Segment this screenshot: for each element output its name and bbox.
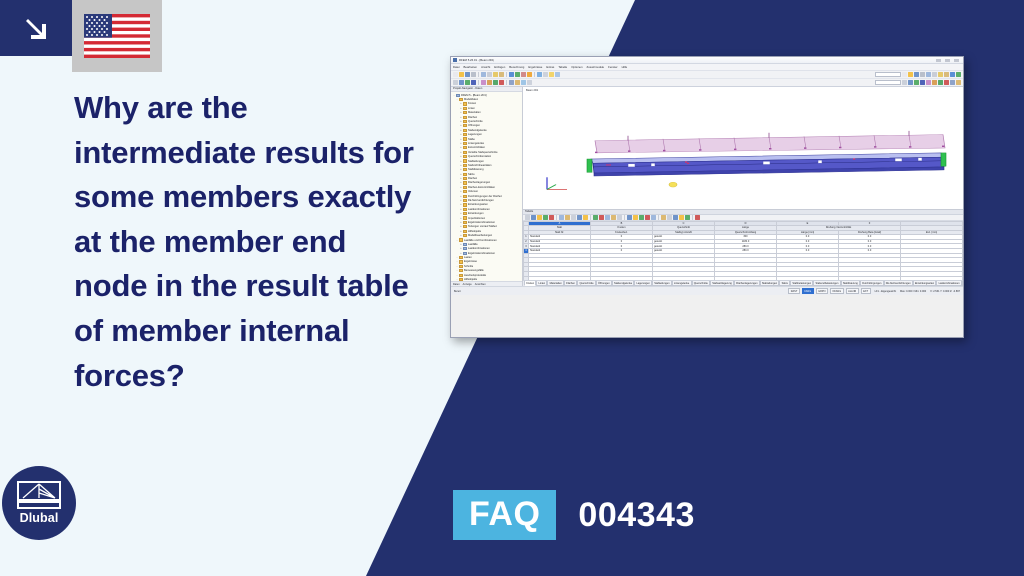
table-body[interactable]: 1Standard0gelenkt3000.00.02Standard0gele… [524,235,963,280]
table-tool-icon[interactable] [627,215,632,220]
language-flag-block[interactable] [72,0,162,72]
folder-icon [463,102,467,105]
navigator-item-label: Durchdringungen der Flächen [468,195,502,198]
folder-icon [463,199,467,202]
table-tool-icon[interactable] [525,215,530,220]
new-icon[interactable] [453,72,458,77]
menu-item[interactable]: Einfügen [494,65,505,69]
load-icon-alt[interactable] [944,80,949,85]
folder-icon [463,181,467,184]
navigator-item-label: Lasten [464,256,472,259]
table-tool-icon[interactable] [571,215,576,220]
navigator-item-label: Flächen [468,177,477,180]
menu-item[interactable]: Fenster [608,65,617,69]
table-tool-icon[interactable] [549,215,554,220]
sheet-tab[interactable]: Querschnitte [577,280,596,286]
status-toggle[interactable]: FANG [802,288,814,294]
menu-item[interactable]: Extras [546,65,554,69]
dlubal-wordmark: Dlubal [20,512,59,525]
support-icon[interactable] [493,80,498,85]
member-icon[interactable] [471,80,476,85]
model-icon [456,94,460,97]
arrow-down-right-icon [21,13,51,43]
toolbar-separator [478,72,479,77]
save-icon[interactable] [465,72,470,77]
folder-icon [463,116,467,119]
new-icon-alt[interactable] [902,72,907,77]
model-graphic [523,87,963,209]
folder-blue-icon [463,247,467,250]
navigator-item-label: Lastkombinationen [468,208,490,211]
folder-icon [463,133,467,136]
menu-item[interactable]: Zusatzmodule [587,65,605,69]
close-button[interactable] [954,59,959,62]
navigator-item-label: Lagerungen [468,133,482,136]
navigator-item-label: Schnitte [464,265,473,268]
table-tool-icon[interactable] [645,215,650,220]
folder-icon [463,107,467,110]
dlubal-logo[interactable]: Dlubal [2,466,76,540]
paste-icon[interactable] [499,72,504,77]
folder-icon [463,212,467,215]
folder-icon [463,137,467,140]
folder-icon [463,168,467,171]
cut-icon[interactable] [487,72,492,77]
app-title-bar: RFEM 5.26.01 - [Beam 2D1] [451,57,963,64]
solid-icon-alt[interactable] [932,80,937,85]
model-viewport[interactable]: Beam 2D1 [523,87,963,210]
select-icon[interactable] [453,80,458,85]
sheet-tab[interactable]: Stabbelastungen [790,280,813,286]
status-left-text: Bereit [454,290,461,293]
navigator-item-label: Volumen [468,190,478,193]
table-tool-icon[interactable] [605,215,610,220]
navigator-item-label: Imperfektionen [468,217,485,220]
navigator-item-label: Lastkombinationen [468,247,490,250]
slide-canvas: Why are the intermediate results for som… [0,0,1024,576]
navigator-item-label: Querschnitte [468,120,483,123]
navigator-tab[interactable]: Daten [453,283,460,286]
menu-bar[interactable]: DateiBearbeitenAnsichtEinfügenBerechnung… [451,64,963,71]
folder-icon [463,186,467,189]
navigator-tab[interactable]: Ansichten [475,283,486,286]
folder-icon [463,221,467,224]
navigator-item-label: Linien [468,107,475,110]
navigator-item-label: Stabendgelenke [468,129,487,132]
toolbar-secondary[interactable] [451,79,963,87]
folder-icon [459,260,463,263]
work-column: Beam 2D1 [523,87,963,286]
navigator-item-label: Modelldaten [464,98,478,101]
navigator-item-label: Einwirkungsarten [468,203,488,206]
navigator-item-label: Liniengelenke [468,142,484,145]
faq-badge: FAQ 004343 [453,490,695,540]
navigator-tabs[interactable]: DatenAnzeigeAnsichten [451,281,522,286]
member-icon-alt[interactable] [920,80,925,85]
sheet-tab[interactable]: Querschnitte [692,280,711,286]
sheet-tab[interactable]: FE-Netzverdichtungen [884,280,913,286]
folder-icon [463,225,467,228]
table-tool-icon[interactable] [543,215,548,220]
surface-icon-alt[interactable] [926,80,931,85]
menu-item[interactable]: Bearbeiten [464,65,478,69]
table-tool-icon[interactable] [651,215,656,220]
app-screenshot-window: RFEM 5.26.01 - [Beam 2D1] DateiBearbeite… [450,56,964,338]
folder-icon [463,124,467,127]
zoom-icon[interactable] [543,72,548,77]
toolbar-separator [478,80,479,85]
navigator-item-label: Flächenlagerungen [468,181,490,184]
faq-number: 004343 [578,495,694,535]
table-tool-icon[interactable] [577,215,582,220]
status-toggle[interactable]: GRPN [816,288,828,294]
restore-button[interactable] [945,59,950,62]
status-toggle[interactable]: OFANG [830,288,844,294]
page-title: Why are the intermediate results for som… [74,86,419,398]
folder-icon [463,208,467,211]
sheet-tab[interactable]: Stabendbelastungen [813,280,840,286]
section-icon-alt[interactable] [956,80,961,85]
status-toggle[interactable]: RAST [788,288,800,294]
folder-icon [463,120,467,123]
open-icon-alt[interactable] [908,72,913,77]
toolbar-separator [506,80,507,85]
table-tool-icon[interactable] [617,215,622,220]
sheet-tab[interactable]: Flächen [564,280,577,286]
toolbar-primary[interactable] [451,71,963,79]
sheet-tab[interactable]: Lastkombinationen [936,280,961,286]
undo-icon-alt[interactable] [950,72,955,77]
print-icon[interactable] [471,72,476,77]
copy-icon[interactable] [493,72,498,77]
navigator-item-label: Verteilte Stabquerschnitte [468,151,498,154]
results-icon[interactable] [537,72,542,77]
navigator-item-label: Ergebniskombinationen [468,221,495,224]
print-preview-icon-alt[interactable] [926,72,931,77]
navigator-item-label: Teilungen von/auf Stäben [468,225,497,228]
folder-icon [463,164,467,167]
table-toolbar-separator [692,215,693,220]
table-tool-icon[interactable] [611,215,616,220]
navigator-item-label: Stabteilungen [468,160,484,163]
dimension-icon-alt[interactable] [950,80,955,85]
cut-icon-alt[interactable] [932,72,937,77]
navigator-item-label: Lastfälle und Kombinationen [464,239,497,242]
folder-icon [463,177,467,180]
menu-item[interactable]: Tabelle [558,65,567,69]
folder-icon [463,129,467,132]
navigator-item-label: Bemessungsfälle [464,269,484,272]
sheet-tab-strip[interactable]: KnotenLinienMaterialienFlächenQuerschnit… [523,280,963,286]
folder-icon [463,190,467,193]
table-tool-icon[interactable] [679,215,684,220]
solid-icon[interactable] [487,80,492,85]
print-preview-icon[interactable] [481,72,486,77]
menu-item[interactable]: Berechnung [509,65,524,69]
navigator-item-label: Hilfsobjekte [468,230,481,233]
table-tool-icon[interactable] [537,215,542,220]
menu-item[interactable]: Hilfe [622,65,628,69]
copy-icon-alt[interactable] [938,72,943,77]
status-info-right: Max: 0.000 / Min: 0.000 [900,290,926,293]
navigator-item-label: Ergebnisse [464,260,477,263]
navigator-item-label: Flächen [468,116,477,119]
navigator-item-label: FE-Netzverdichtungen [468,199,494,202]
select-icon-alt[interactable] [902,80,907,85]
folder-icon [459,256,463,259]
table-tool-icon[interactable] [559,215,564,220]
node-icon[interactable] [459,80,464,85]
navigator-item-label: Stäbe [468,138,475,141]
folder-icon [459,98,463,101]
results-table[interactable]: ABCDEF StabKnotenQuerschnittLängeDrehung… [523,221,963,280]
undo-icon[interactable] [509,72,514,77]
table-tool-icon[interactable] [599,215,604,220]
folder-icon [463,151,467,154]
navigator-tree[interactable]: -RFEM 5 - [Beam 2D1]-Modelldaten+Knoten+… [451,92,522,281]
sheet-tab[interactable]: Durchdringungen [860,280,884,286]
app-logo-icon [453,58,457,62]
folder-icon [463,173,467,176]
open-icon[interactable] [459,72,464,77]
folder-icon [463,203,467,206]
calculate-icon[interactable] [527,72,532,77]
folder-icon [463,146,467,149]
snap-icon[interactable] [555,72,560,77]
flag-usa-icon [84,14,150,58]
folder-icon [463,234,467,237]
folder-icon [459,238,463,241]
navigator-item-label: Stabilisierung [468,168,484,171]
navigator-item-label: Sätze [468,173,475,176]
table-tool-icon[interactable] [633,215,638,220]
grid-icon[interactable] [549,72,554,77]
navigator-item-label: Flächen-Exzentrizitäten [468,186,495,189]
toolbar-separator [506,72,507,77]
table-tool-icon[interactable] [583,215,588,220]
sheet-tab[interactable]: Stabteilungen [652,280,672,286]
table-tool-icon[interactable] [565,215,570,220]
folder-icon [463,216,467,219]
sheet-tab[interactable]: Einwirkungs-Typen [962,280,963,286]
print-icon-alt[interactable] [920,72,925,77]
toolbar-separator [534,72,535,77]
folder-icon [463,155,467,158]
render-icon[interactable] [521,72,526,77]
status-toggle[interactable]: ALLNR [846,288,859,294]
sheet-tab[interactable]: Stabilisierung [841,280,860,286]
navigator-item-label: Lastfälle [468,243,478,246]
sheet-tab[interactable]: Stabteilungen [760,280,780,286]
navigator-root-label: RFEM 5 - [Beam 2D1] [461,94,487,97]
faq-chip-label: FAQ [453,490,556,540]
folder-icon [459,274,463,277]
menu-item[interactable]: Ansicht [481,65,490,69]
status-coords: X: 2.531 Y: 0.000 Z: -0.897 [930,290,960,293]
folder-icon [463,142,467,145]
folder-blue-icon [463,243,467,246]
table-tool-icon[interactable] [667,215,672,220]
navigator-header-label: Projekt-Navigator - Daten [453,87,482,90]
table-toolbar-separator [590,215,591,220]
load-icon[interactable] [499,80,504,85]
support-icon-alt[interactable] [938,80,943,85]
table-tool-icon[interactable] [695,215,700,220]
sheet-tab[interactable]: Knoten [524,280,536,286]
window-controls[interactable] [936,59,959,62]
folder-icon [463,111,467,114]
node-icon-alt[interactable] [908,80,913,85]
navigator-tab[interactable]: Anzeige [463,283,472,286]
save-icon-alt[interactable] [914,72,919,77]
redo-icon[interactable] [515,72,520,77]
table-toolbar-separator [556,215,557,220]
line-icon[interactable] [465,80,470,85]
navigator-item-label: Ausdruckprotokolle [464,274,486,277]
table-tool-icon[interactable] [673,215,678,220]
table-grid-wrapper[interactable]: ABCDEF StabKnotenQuerschnittLängeDrehung… [523,221,963,280]
table-toolbar-separator [624,215,625,220]
surface-icon[interactable] [481,80,486,85]
sheet-tab[interactable]: Materialien [547,280,564,286]
folder-icon [463,159,467,162]
navigator-item-label: Modellbearbeitungen [468,234,492,237]
project-navigator: Projekt-Navigator - Daten -RFEM 5 - [Bea… [451,87,523,286]
app-body: Projekt-Navigator - Daten -RFEM 5 - [Bea… [451,87,963,286]
load-case-combo[interactable] [875,72,901,77]
table-tool-icon[interactable] [685,215,690,220]
navigator-item-label: Materialien [468,111,481,114]
material-icon[interactable] [521,80,526,85]
navigator-item-label: Öffnungen [468,124,480,127]
navigator-item-label: Stabnichtlinearitäten [468,164,492,167]
folder-icon [459,269,463,272]
table-tool-icon[interactable] [593,215,598,220]
app-title: RFEM 5.26.01 - [Beam 2D1] [459,58,494,62]
redo-icon-alt[interactable] [956,72,961,77]
navigator-item-label: Ergebniskombinationen [468,252,495,255]
label-icon[interactable] [527,80,532,85]
sheet-tab[interactable]: Stabsatzlagerung [710,280,734,286]
line-icon-alt[interactable] [914,80,919,85]
section-icon[interactable] [515,80,520,85]
sheet-tab[interactable]: Flächenlagerungen [734,280,760,286]
paste-icon-alt[interactable] [944,72,949,77]
status-toggle-buttons[interactable]: RASTFANGGRPNOFANGALLNREXT [788,288,870,294]
arrow-block [0,0,72,56]
minimize-button[interactable] [936,59,941,62]
sheet-tab[interactable]: Öffnungen [596,280,612,286]
sheet-tab[interactable]: Einwirkungsarten [913,280,937,286]
folder-icon [463,195,467,198]
dimension-icon[interactable] [509,80,514,85]
navigator-item-label: Knoten [468,102,476,105]
status-toggle[interactable]: EXT [861,288,871,294]
table-toolbar-separator [658,215,659,220]
sheet-tab[interactable]: Lagerungen [634,280,652,286]
table-tool-icon[interactable] [639,215,644,220]
status-info-left: LF1 - Eigengewicht [875,290,896,293]
folder-icon [459,265,463,268]
status-bar: Bereit RASTFANGGRPNOFANGALLNREXT LF1 - E… [451,286,963,295]
menu-item[interactable]: Ergebnisse [528,65,542,69]
sheet-tab[interactable]: Sätze [779,280,790,286]
results-table-panel: Tabelle ABCDEF StabKnotenQuerschnittLäng… [523,210,963,286]
table-tool-icon[interactable] [661,215,666,220]
navigator-item-label: Exzentrizitäten [468,146,485,149]
sheet-tab[interactable]: Linien [536,280,547,286]
folder-blue-icon [463,252,467,255]
folder-icon [463,230,467,233]
table-tool-icon[interactable] [531,215,536,220]
load-case-combo[interactable] [875,80,901,85]
sheet-tab[interactable]: Liniengelenke [672,280,692,286]
sheet-tab[interactable]: Stabendgelenke [612,280,634,286]
truss-frame-icon [17,481,61,511]
menu-item[interactable]: Datei [453,65,460,69]
navigator-item-label: Querschnittsrotation [468,155,491,158]
menu-item[interactable]: Optionen [571,65,582,69]
navigator-item-label: Einwirkungen [468,212,484,215]
